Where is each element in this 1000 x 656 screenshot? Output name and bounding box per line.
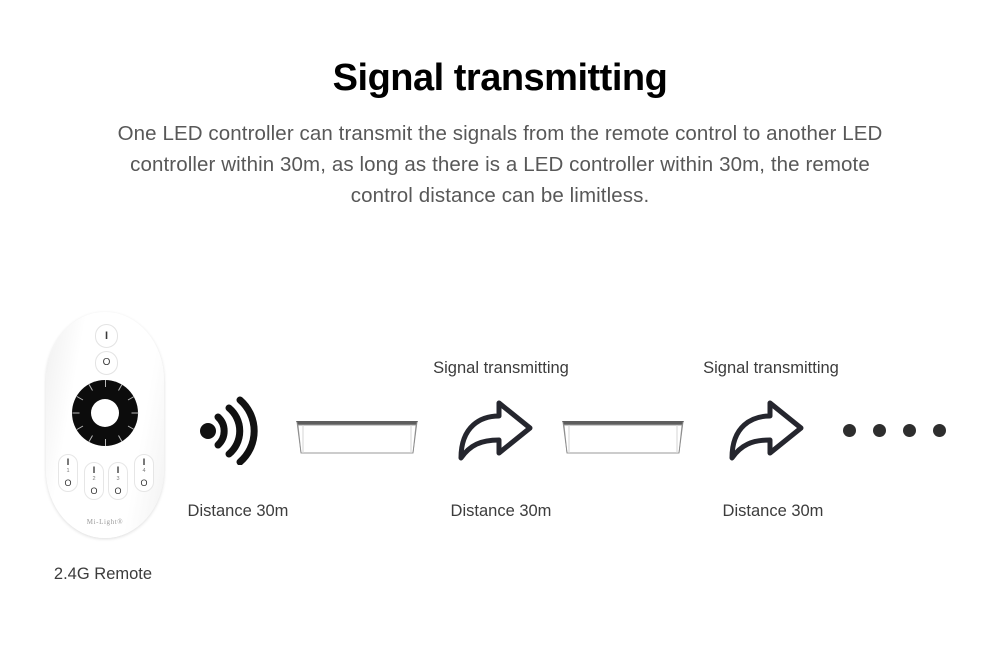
signal-transmitting-label-2: Signal transmitting	[678, 359, 864, 378]
remote-caption: 2.4G Remote	[38, 565, 168, 584]
signal-transmitting-label-1: Signal transmitting	[408, 359, 594, 378]
dial-tick	[118, 384, 122, 391]
distance-label-1: Distance 30m	[178, 502, 298, 521]
dial-tick	[88, 384, 92, 391]
remote-brand-logo: Mi-Light®	[46, 518, 164, 526]
zone-4-on-label: I	[135, 458, 153, 467]
dial-tick	[118, 435, 122, 442]
dial-tick	[105, 439, 106, 446]
dial-tick	[127, 426, 134, 430]
remote-power-off-button[interactable]: O	[95, 351, 118, 375]
continuation-dots	[843, 424, 946, 437]
distance-label-2: Distance 30m	[418, 502, 584, 521]
zone-4-off-label: O	[135, 479, 153, 488]
dial-tick	[72, 413, 79, 414]
remote-caption-text: 2.4G Remote	[54, 565, 152, 583]
remote-zone-button-1[interactable]: I 1 O	[58, 454, 78, 492]
zone-3-number: 3	[109, 477, 127, 483]
continuation-dot	[843, 424, 856, 437]
distance-label-3: Distance 30m	[690, 502, 856, 521]
zone-3-off-label: O	[109, 487, 127, 496]
led-controller-1	[292, 415, 422, 455]
remote-power-on-button[interactable]: I	[95, 324, 118, 348]
signal-wave-icon	[192, 395, 262, 465]
zone-2-off-label: O	[85, 487, 103, 496]
dial-tick	[76, 396, 83, 400]
zone-1-off-label: O	[59, 479, 77, 488]
dial-tick	[127, 396, 134, 400]
remote-body: I O I 1 O	[46, 312, 164, 538]
continuation-dot	[873, 424, 886, 437]
continuation-dot	[933, 424, 946, 437]
remote-dial[interactable]	[72, 380, 138, 446]
continuation-dot	[903, 424, 916, 437]
zone-2-on-label: I	[85, 466, 103, 475]
remote-zone-button-3[interactable]: I 3 O	[108, 462, 128, 500]
zone-4-number: 4	[135, 469, 153, 475]
signal-flow-diagram: I O I 1 O	[0, 0, 1000, 656]
zone-1-on-label: I	[59, 458, 77, 467]
zone-1-number: 1	[59, 469, 77, 475]
zone-2-number: 2	[85, 477, 103, 483]
remote-control-graphic: I O I 1 O	[38, 312, 168, 602]
dial-tick	[76, 426, 83, 430]
zone-3-on-label: I	[109, 466, 127, 475]
led-controller-2	[558, 415, 688, 455]
forward-arrow-icon-2	[726, 398, 806, 462]
dial-tick	[105, 380, 106, 387]
dial-tick	[88, 435, 92, 442]
dial-center	[91, 399, 119, 427]
forward-arrow-icon-1	[455, 398, 535, 462]
remote-zone-button-4[interactable]: I 4 O	[134, 454, 154, 492]
remote-zone-button-2[interactable]: I 2 O	[84, 462, 104, 500]
dial-tick	[131, 413, 138, 414]
